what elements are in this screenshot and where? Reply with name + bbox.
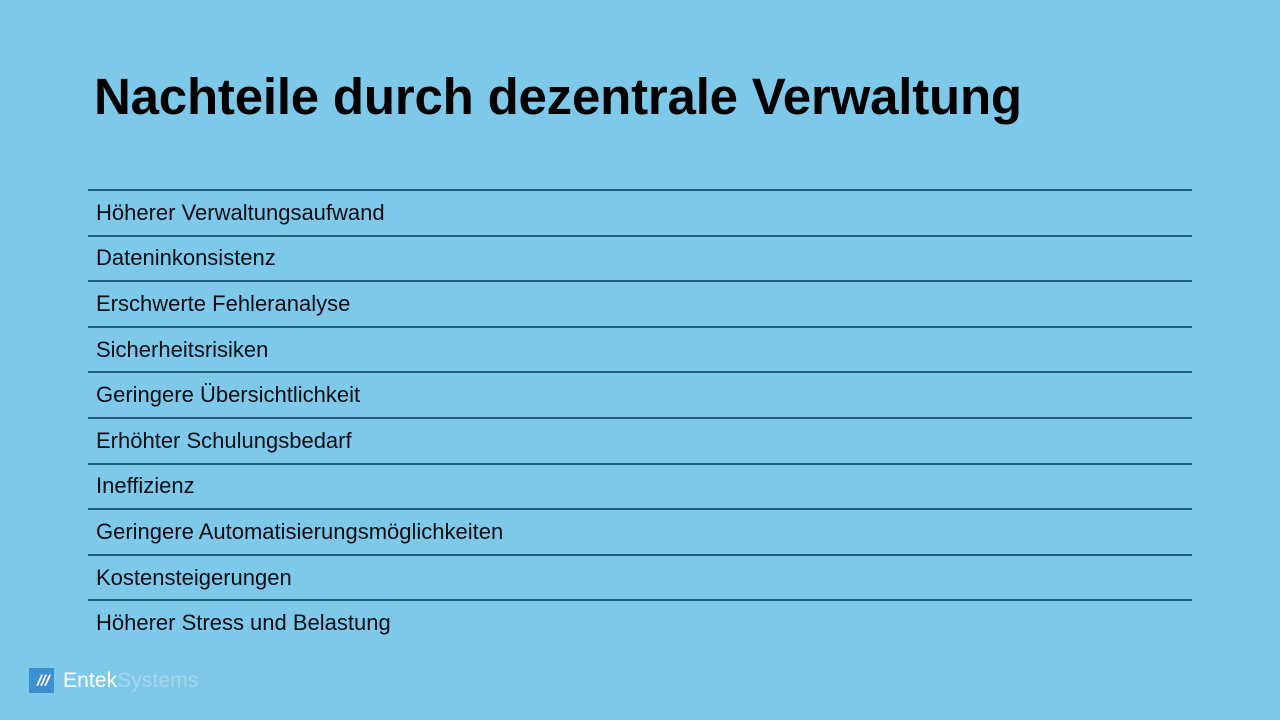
list-item-label: Höherer Stress und Belastung (88, 610, 391, 636)
list-item: Ineffizienz (88, 463, 1192, 509)
list-item: Erhöhter Schulungsbedarf (88, 417, 1192, 463)
list-item: Dateninkonsistenz (88, 235, 1192, 281)
list-item-label: Geringere Automatisierungsmöglichkeiten (88, 519, 503, 545)
page-title: Nachteile durch dezentrale Verwaltung (94, 66, 1194, 128)
entek-bars-logo-icon (29, 668, 54, 693)
list-item: Höherer Verwaltungsaufwand (88, 189, 1192, 235)
list-item-label: Kostensteigerungen (88, 565, 292, 591)
list-item-label: Erhöhter Schulungsbedarf (88, 428, 352, 454)
list-item-label: Geringere Übersichtlichkeit (88, 382, 360, 408)
list-item-label: Sicherheitsrisiken (88, 337, 268, 363)
list-item-label: Höherer Verwaltungsaufwand (88, 200, 385, 226)
list-item: Geringere Automatisierungsmöglichkeiten (88, 508, 1192, 554)
brand-logo: EntekSystems (29, 666, 198, 694)
list-item-label: Ineffizienz (88, 473, 195, 499)
presentation-slide: Nachteile durch dezentrale Verwaltung Hö… (0, 0, 1280, 720)
list-item: Sicherheitsrisiken (88, 326, 1192, 372)
list-item: Höherer Stress und Belastung (88, 599, 1192, 645)
list-item: Geringere Übersichtlichkeit (88, 371, 1192, 417)
list-item: Erschwerte Fehleranalyse (88, 280, 1192, 326)
disadvantages-list: Höherer Verwaltungsaufwand Dateninkonsis… (88, 189, 1192, 645)
logo-word-systems: Systems (117, 669, 198, 692)
list-item-label: Erschwerte Fehleranalyse (88, 291, 350, 317)
logo-word-entek: Entek (63, 669, 117, 692)
logo-wordmark: EntekSystems (63, 668, 198, 693)
list-item: Kostensteigerungen (88, 554, 1192, 600)
list-item-label: Dateninkonsistenz (88, 245, 276, 271)
